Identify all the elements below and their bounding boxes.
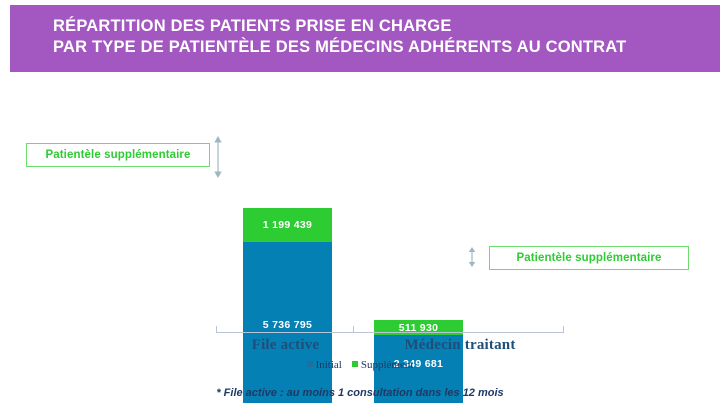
category-label-file-active: File active: [218, 337, 353, 354]
legend-label-initial: Initial: [316, 359, 342, 371]
legend-label-supplement: Supplément: [361, 359, 414, 371]
x-axis-tick-end: [563, 326, 564, 333]
double-arrow-right-icon: [465, 246, 479, 268]
legend-item-initial[interactable]: Initial: [307, 359, 342, 371]
double-arrow-left-icon: [211, 135, 225, 179]
callout-left-label: Patientèle supplémentaire: [45, 149, 190, 161]
chart-legend: InitialSupplément: [0, 359, 720, 371]
x-axis-line: [216, 332, 563, 333]
legend-swatch-supplement-icon: [352, 361, 358, 367]
callout-patientele-supplementaire-left: Patientèle supplémentaire: [26, 143, 210, 167]
legend-swatch-initial-icon: [307, 361, 313, 367]
x-axis-tick-start: [216, 326, 217, 333]
stacked-bar-chart: 1 199 439 5 736 795 511 930 2 349 681 Fi…: [0, 72, 720, 403]
page-title: RÉPARTITION DES PATIENTS PRISE EN CHARGE…: [53, 16, 626, 58]
bar-value-supplement-file-active: 1 199 439: [243, 219, 332, 231]
bar-value-initial-file-active: 5 736 795: [243, 319, 332, 331]
bar-file-active[interactable]: 1 199 439 5 736 795: [243, 208, 332, 403]
x-axis-tick-middle: [353, 326, 354, 333]
legend-item-supplement[interactable]: Supplément: [352, 359, 414, 371]
callout-right-label: Patientèle supplémentaire: [516, 252, 661, 264]
header-banner: RÉPARTITION DES PATIENTS PRISE EN CHARGE…: [10, 5, 720, 72]
callout-patientele-supplementaire-right: Patientèle supplémentaire: [489, 246, 689, 270]
category-label-medecin-traitant: Médecin traitant: [356, 337, 564, 354]
chart-footnote: * File active : au moins 1 consultation …: [0, 387, 720, 399]
